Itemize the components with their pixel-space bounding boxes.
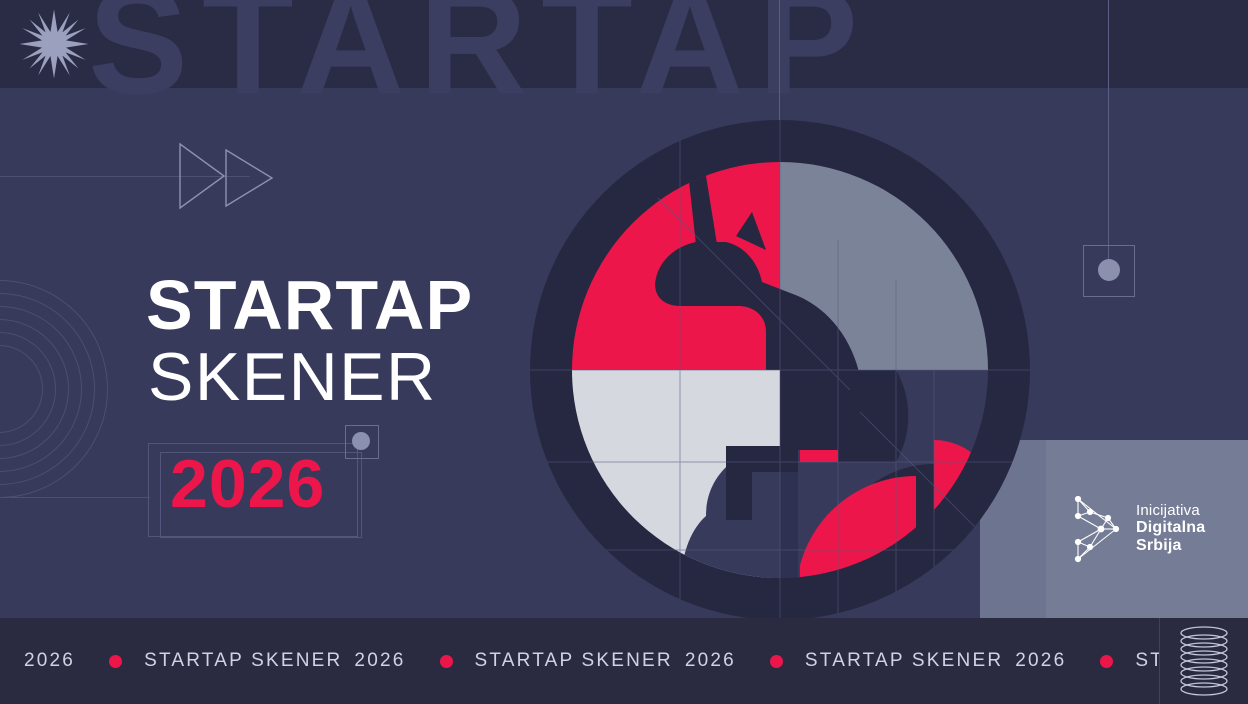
watermark-band: STARTAP [0,0,1248,130]
sponsor-line-1: Inicijativa [1136,503,1205,520]
fast-forward-icon [176,140,286,212]
ticker-dot [440,655,453,668]
drop-line [1108,88,1109,270]
sponsor-line-2: Digitalna [1136,519,1205,537]
ticker-word: STARTAP SKENER [475,650,673,672]
unicorn-emblem [530,120,1030,620]
sponsor-logo[interactable]: Inicijativa Digitalna Srbija [1070,492,1205,566]
ticker-year: 2026 [1015,650,1066,672]
sponsor-logo-text: Inicijativa Digitalna Srbija [1136,503,1205,556]
year-label: 2026 [170,450,325,518]
ticker-dot [109,655,122,668]
poster-canvas: STARTAP [0,0,1248,704]
coil-icon-cell [1159,618,1248,704]
vertical-stripe [772,0,782,88]
ticker-dot [1100,655,1113,668]
title-line-2: SKENER [148,343,473,411]
ticker-track: 2026STARTAP SKENER2026STARTAP SKENER2026… [0,650,1159,672]
ticker-word: STARTAP SKENER [805,650,1003,672]
sponsor-line-3: Srbija [1136,537,1205,555]
year-tick-line [0,497,150,498]
title-line-1: STARTAP [146,272,473,339]
ticker-year: 2026 [685,650,736,672]
ticker-word: STARTAP SKENER [1135,650,1159,672]
ticker-dot [770,655,783,668]
starburst-icon [18,8,90,80]
coil-icon [1178,625,1230,697]
concentric-rings-decor [0,280,110,500]
drop-marker-dot [1098,259,1120,281]
title-block: STARTAP SKENER [146,272,473,411]
selection-handle-dot [352,432,370,450]
ticker-word: STARTAP SKENER [144,650,342,672]
ticker-bar: 2026STARTAP SKENER2026STARTAP SKENER2026… [0,618,1248,704]
guide-line-vertical-right [1108,0,1109,88]
ticker-year: 2026 [354,650,405,672]
ticker-year: 2026 [24,650,75,672]
watermark-text: STARTAP [88,0,872,116]
network-nodes-mark-icon [1070,492,1124,566]
